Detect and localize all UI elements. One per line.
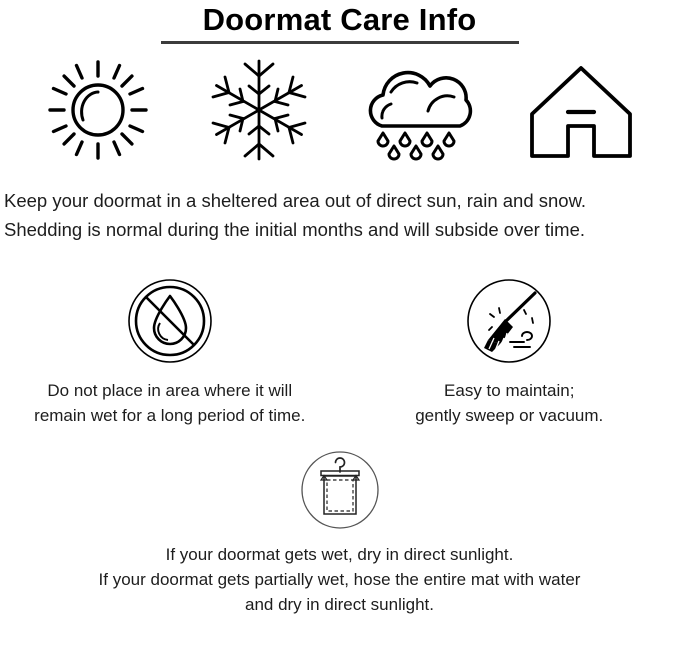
- care-item-no-water: Do not place in area where it will remai…: [0, 278, 340, 428]
- bottom-caption-line-1: If your doormat gets wet, dry in direct …: [99, 542, 581, 567]
- rain-cloud-icon: [358, 56, 482, 164]
- no-water-icon: [127, 278, 213, 364]
- weather-icon-cell: [184, 56, 334, 164]
- care-caption-line-1: Do not place in area where it will: [34, 378, 305, 403]
- house-icon: [524, 56, 638, 164]
- page-header: Doormat Care Info: [0, 0, 679, 44]
- care-caption-line-1: Easy to maintain;: [415, 378, 603, 403]
- bottom-caption-line-3: and dry in direct sunlight.: [99, 592, 581, 617]
- care-caption-no-water: Do not place in area where it will remai…: [34, 378, 305, 428]
- bottom-caption-line-2: If your doormat gets partially wet, hose…: [99, 567, 581, 592]
- page-title: Doormat Care Info: [0, 2, 679, 38]
- bottom-caption: If your doormat gets wet, dry in direct …: [99, 542, 581, 617]
- broom-sweep-icon: [466, 278, 552, 364]
- weather-icon-row: [0, 44, 679, 164]
- care-caption-sweep: Easy to maintain; gently sweep or vacuum…: [415, 378, 603, 428]
- weather-icon-cell: [506, 56, 656, 164]
- care-item-hang-dry: If your doormat gets wet, dry in direct …: [0, 450, 679, 617]
- intro-line-2: Shedding is normal during the initial mo…: [4, 215, 675, 244]
- care-caption-line-2: gently sweep or vacuum.: [415, 403, 603, 428]
- care-instructions-row: Do not place in area where it will remai…: [0, 278, 679, 428]
- intro-line-1: Keep your doormat in a sheltered area ou…: [4, 186, 675, 215]
- weather-icon-cell: [23, 56, 173, 164]
- weather-icon-cell: [345, 56, 495, 164]
- intro-paragraph: Keep your doormat in a sheltered area ou…: [0, 186, 679, 244]
- care-caption-line-2: remain wet for a long period of time.: [34, 403, 305, 428]
- care-item-sweep: Easy to maintain; gently sweep or vacuum…: [340, 278, 679, 428]
- sun-icon: [44, 56, 152, 164]
- snowflake-icon: [207, 56, 311, 164]
- hang-dry-icon: [300, 450, 380, 530]
